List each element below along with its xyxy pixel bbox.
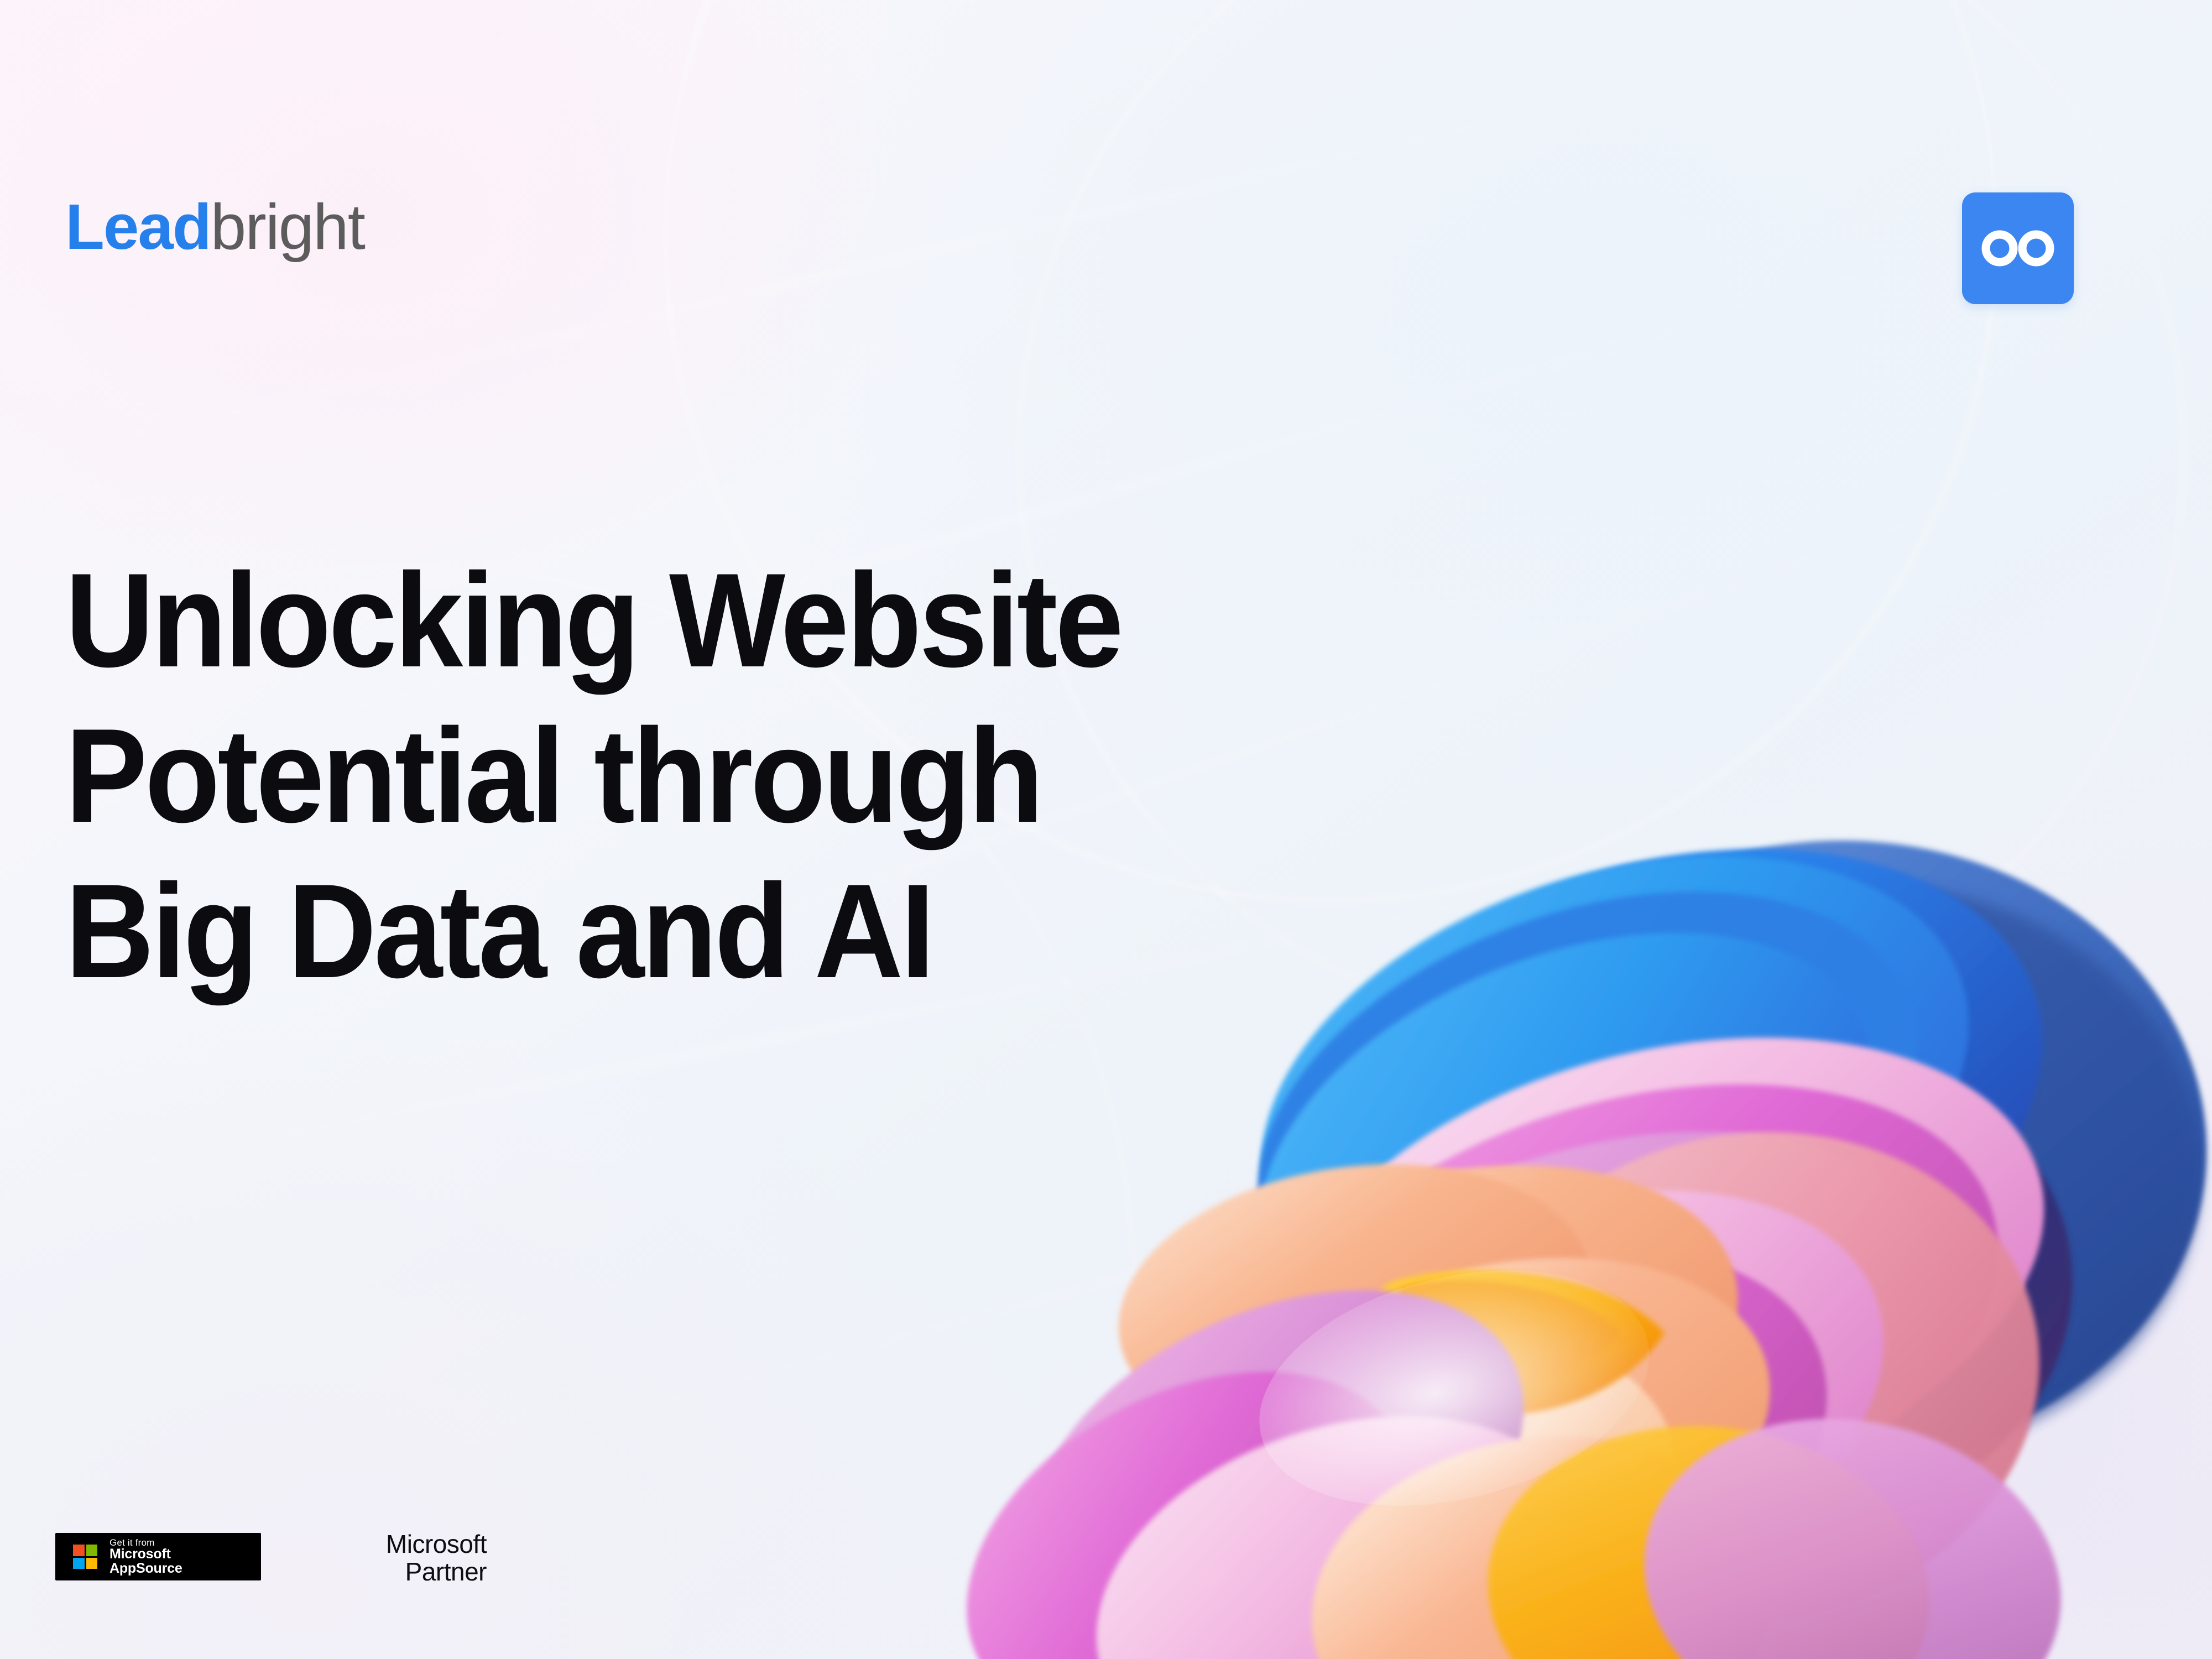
appsource-badge-text: Get it from Microsoft AppSource xyxy=(109,1538,182,1575)
microsoft-square-yellow xyxy=(86,1558,98,1569)
microsoft-square-red xyxy=(73,1545,85,1556)
microsoft-square-green xyxy=(86,1545,98,1556)
brand-logo-primary: Lead xyxy=(65,191,211,263)
partner-line-1: Microsoft xyxy=(299,1531,487,1558)
microsoft-square-blue xyxy=(73,1558,85,1569)
presentation-slide: Leadbright Unlocking Website Potential t… xyxy=(0,0,2212,1659)
microsoft-appsource-badge[interactable]: Get it from Microsoft AppSource xyxy=(55,1533,261,1580)
infinity-icon[interactable] xyxy=(1962,192,2074,304)
background-wash-bottom-right xyxy=(1106,896,2212,1659)
brand-logo[interactable]: Leadbright xyxy=(65,195,364,259)
infinity-glyph xyxy=(1981,228,2054,269)
microsoft-partner-badge: Microsoft Partner xyxy=(299,1531,487,1585)
headline-line-2: Potential through xyxy=(65,698,1617,854)
headline-line-1: Unlocking Website xyxy=(65,543,1617,698)
brand-logo-secondary: bright xyxy=(211,191,364,263)
appsource-appsource: AppSource xyxy=(109,1562,182,1576)
partner-line-2: Partner xyxy=(299,1558,487,1586)
headline-line-3: Big Data and AI xyxy=(65,854,1617,1009)
microsoft-logo-icon xyxy=(73,1545,97,1569)
background-wash-top-left xyxy=(0,0,929,630)
appsource-microsoft: Microsoft xyxy=(109,1547,182,1562)
page-title: Unlocking Website Potential through Big … xyxy=(65,543,1617,1009)
